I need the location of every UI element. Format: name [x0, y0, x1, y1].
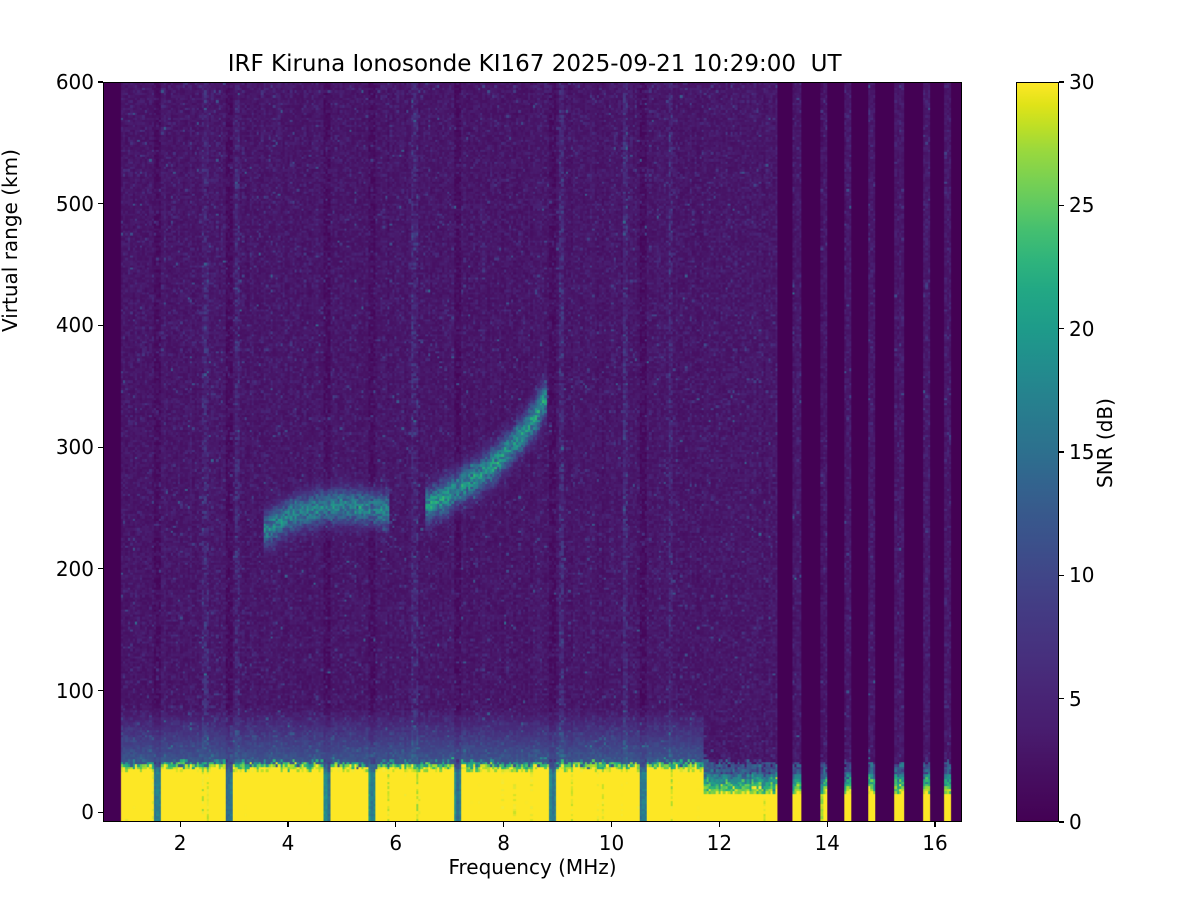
x-tick-mark — [934, 822, 935, 827]
colorbar — [1016, 82, 1059, 822]
y-tick-mark — [98, 203, 103, 204]
y-tick-label: 200 — [32, 559, 94, 579]
colorbar-tick-mark — [1059, 451, 1064, 452]
x-tick-label: 10 — [581, 833, 641, 853]
x-tick-mark — [611, 822, 612, 827]
x-tick-label: 6 — [366, 833, 426, 853]
x-axis-label: Frequency (MHz) — [103, 855, 962, 879]
y-tick-mark — [98, 81, 103, 82]
y-tick-label: 0 — [32, 802, 94, 822]
x-tick-label: 14 — [797, 833, 857, 853]
y-tick-mark — [98, 812, 103, 813]
y-tick-mark — [98, 690, 103, 691]
colorbar-tick-mark — [1059, 575, 1064, 576]
colorbar-tick-label: 20 — [1069, 319, 1094, 339]
title-line-1: IRF Kiruna Ionosonde KI167 2025-09-21 10… — [228, 51, 842, 77]
colorbar-tick-mark — [1059, 698, 1064, 699]
x-tick-label: 2 — [150, 833, 210, 853]
y-tick-label: 400 — [32, 315, 94, 335]
x-tick-mark — [180, 822, 181, 827]
colorbar-tick-label: 10 — [1069, 565, 1094, 585]
x-tick-mark — [719, 822, 720, 827]
y-tick-mark — [98, 568, 103, 569]
colorbar-tick-mark — [1059, 205, 1064, 206]
colorbar-tick-label: 15 — [1069, 442, 1094, 462]
x-tick-label: 12 — [689, 833, 749, 853]
colorbar-tick-label: 5 — [1069, 689, 1082, 709]
y-tick-mark — [98, 325, 103, 326]
x-tick-mark — [287, 822, 288, 827]
y-axis-label: Virtual range (km) — [0, 149, 22, 332]
colorbar-label: SNR (dB) — [1093, 398, 1117, 488]
x-tick-label: 16 — [905, 833, 965, 853]
y-tick-label: 300 — [32, 437, 94, 457]
colorbar-tick-mark — [1059, 328, 1064, 329]
colorbar-tick-label: 30 — [1069, 72, 1094, 92]
x-tick-mark — [827, 822, 828, 827]
x-tick-mark — [395, 822, 396, 827]
ionogram-heatmap — [104, 83, 961, 821]
colorbar-tick-mark — [1059, 81, 1064, 82]
colorbar-tick-label: 25 — [1069, 195, 1094, 215]
y-tick-label: 500 — [32, 194, 94, 214]
y-tick-label: 100 — [32, 681, 94, 701]
colorbar-tick-label: 0 — [1069, 812, 1082, 832]
x-tick-label: 8 — [474, 833, 534, 853]
x-tick-mark — [503, 822, 504, 827]
y-tick-label: 600 — [32, 72, 94, 92]
y-tick-mark — [98, 447, 103, 448]
ionogram-figure: IRF Kiruna Ionosonde KI167 2025-09-21 10… — [0, 0, 1200, 900]
ionogram-axes — [103, 82, 962, 822]
colorbar-tick-mark — [1059, 821, 1064, 822]
x-tick-label: 4 — [258, 833, 318, 853]
